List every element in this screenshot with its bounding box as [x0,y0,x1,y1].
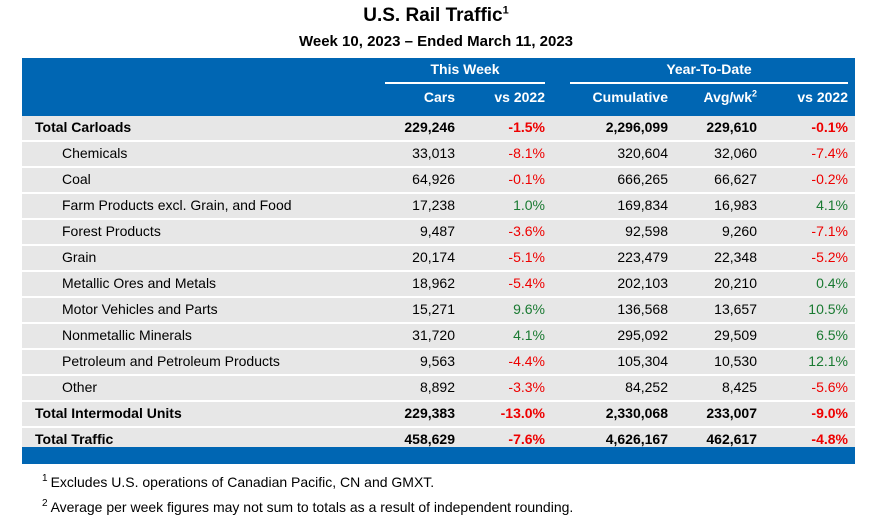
column-header-ytd-vs-2022: vs 2022 [757,89,848,105]
cell-this-week-vs: 4.1% [455,327,545,343]
column-group-year-to-date: Year-To-Date [570,61,848,77]
cell-this-week-vs: -0.1% [455,171,545,187]
cell-avg-per-week: 32,060 [668,145,757,161]
cell-cars: 31,720 [345,327,455,343]
cell-cumulative: 136,568 [555,301,668,317]
cell-ytd-vs: -7.1% [757,223,848,239]
table-row: Nonmetallic Minerals31,7204.1%295,09229,… [22,324,855,348]
table-row: Petroleum and Petroleum Products9,563-4.… [22,350,855,374]
cell-cars: 458,629 [345,431,455,447]
cell-cumulative: 2,330,068 [555,405,668,421]
cell-cars: 20,174 [345,249,455,265]
rail-traffic-report-page: U.S. Rail Traffic1 Week 10, 2023 – Ended… [0,0,872,518]
cell-avg-per-week: 10,530 [668,353,757,369]
cell-cars: 9,487 [345,223,455,239]
cell-avg-per-week: 9,260 [668,223,757,239]
cell-cumulative: 84,252 [555,379,668,395]
cell-cumulative: 92,598 [555,223,668,239]
cell-this-week-vs: -1.5% [455,119,545,135]
cell-cars: 33,013 [345,145,455,161]
cell-ytd-vs: -5.6% [757,379,848,395]
cell-ytd-vs: -5.2% [757,249,848,265]
title-footnote-marker: 1 [503,5,509,17]
table-body: Total Carloads229,246-1.5%2,296,099229,6… [22,116,855,452]
row-label: Motor Vehicles and Parts [62,301,218,317]
table-header-group-row: This Week Year-To-Date [22,58,855,84]
column-header-cumulative: Cumulative [555,89,668,105]
cell-this-week-vs: -3.3% [455,379,545,395]
cell-ytd-vs: -0.2% [757,171,848,187]
cell-cars: 229,383 [345,405,455,421]
page-title: U.S. Rail Traffic1 [0,4,872,28]
cell-cumulative: 223,479 [555,249,668,265]
row-label: Forest Products [62,223,161,239]
cell-this-week-vs: -8.1% [455,145,545,161]
cell-avg-per-week: 462,617 [668,431,757,447]
cell-avg-per-week: 229,610 [668,119,757,135]
table-row: Chemicals33,013-8.1%320,60432,060-7.4% [22,142,855,166]
cell-ytd-vs: 10.5% [757,301,848,317]
cell-cumulative: 320,604 [555,145,668,161]
page-subtitle: Week 10, 2023 – Ended March 11, 2023 [0,32,872,52]
table-row: Forest Products9,487-3.6%92,5989,260-7.1… [22,220,855,244]
cell-avg-per-week: 8,425 [668,379,757,395]
cell-avg-per-week: 16,983 [668,197,757,213]
column-header-this-week-vs-2022: vs 2022 [455,89,545,105]
cell-cumulative: 666,265 [555,171,668,187]
footnote-marker: 1 [42,473,48,484]
cell-avg-per-week: 13,657 [668,301,757,317]
cell-ytd-vs: 12.1% [757,353,848,369]
page-title-text: U.S. Rail Traffic [363,5,502,26]
table-row: Farm Products excl. Grain, and Food17,23… [22,194,855,218]
cell-cars: 229,246 [345,119,455,135]
table-row: Motor Vehicles and Parts15,2719.6%136,56… [22,298,855,322]
cell-ytd-vs: 0.4% [757,275,848,291]
cell-cumulative: 295,092 [555,327,668,343]
table-row: Total Carloads229,246-1.5%2,296,099229,6… [22,116,855,140]
table-row: Grain20,174-5.1%223,47922,348-5.2% [22,246,855,270]
table-header-column-row: Cars vs 2022 Cumulative Avg/wk2 vs 2022 [22,84,855,114]
cell-this-week-vs: -4.4% [455,353,545,369]
cell-this-week-vs: -5.1% [455,249,545,265]
cell-this-week-vs: 1.0% [455,197,545,213]
row-label: Petroleum and Petroleum Products [62,353,280,369]
column-group-this-week: This Week [385,61,545,77]
footnote: 1Excludes U.S. operations of Canadian Pa… [42,470,842,495]
row-label: Farm Products excl. Grain, and Food [62,197,292,213]
column-header-avg-per-week-text: Avg/wk [703,89,752,105]
footnotes: 1Excludes U.S. operations of Canadian Pa… [42,470,842,520]
cell-ytd-vs: -0.1% [757,119,848,135]
cell-avg-per-week: 20,210 [668,275,757,291]
column-header-cars: Cars [345,89,455,105]
cell-this-week-vs: -5.4% [455,275,545,291]
cell-cumulative: 202,103 [555,275,668,291]
row-label: Metallic Ores and Metals [62,275,216,291]
cell-ytd-vs: -4.8% [757,431,848,447]
cell-cars: 64,926 [345,171,455,187]
row-label: Total Traffic [35,431,113,447]
row-label: Grain [62,249,96,265]
cell-avg-per-week: 66,627 [668,171,757,187]
row-label: Nonmetallic Minerals [62,327,192,343]
cell-ytd-vs: 6.5% [757,327,848,343]
footnote: 2Average per week figures may not sum to… [42,495,842,520]
cell-this-week-vs: 9.6% [455,301,545,317]
row-label: Other [62,379,97,395]
cell-avg-per-week: 22,348 [668,249,757,265]
cell-avg-per-week: 29,509 [668,327,757,343]
footnote-text: Average per week figures may not sum to … [51,499,574,515]
cell-cars: 18,962 [345,275,455,291]
table-row: Metallic Ores and Metals18,962-5.4%202,1… [22,272,855,296]
cell-cumulative: 2,296,099 [555,119,668,135]
cell-ytd-vs: -9.0% [757,405,848,421]
cell-cumulative: 4,626,167 [555,431,668,447]
table-footer-bar [22,447,855,464]
cell-cars: 9,563 [345,353,455,369]
table-row: Total Intermodal Units229,383-13.0%2,330… [22,402,855,426]
row-label: Total Intermodal Units [35,405,182,421]
footnote-text: Excludes U.S. operations of Canadian Pac… [51,474,435,490]
table-row: Other8,892-3.3%84,2528,425-5.6% [22,376,855,400]
row-label: Total Carloads [35,119,131,135]
row-label: Coal [62,171,91,187]
cell-cumulative: 105,304 [555,353,668,369]
rail-traffic-table: This Week Year-To-Date Cars vs 2022 Cumu… [22,58,855,452]
row-label: Chemicals [62,145,127,161]
cell-cumulative: 169,834 [555,197,668,213]
cell-cars: 8,892 [345,379,455,395]
table-row: Coal64,926-0.1%666,26566,627-0.2% [22,168,855,192]
cell-this-week-vs: -13.0% [455,405,545,421]
cell-ytd-vs: -7.4% [757,145,848,161]
cell-this-week-vs: -3.6% [455,223,545,239]
table-header: This Week Year-To-Date Cars vs 2022 Cumu… [22,58,855,116]
cell-cars: 17,238 [345,197,455,213]
footnote-marker: 2 [42,498,48,509]
title-block: U.S. Rail Traffic1 Week 10, 2023 – Ended… [0,4,872,52]
column-header-avg-per-week: Avg/wk2 [668,89,757,105]
cell-cars: 15,271 [345,301,455,317]
cell-avg-per-week: 233,007 [668,405,757,421]
cell-this-week-vs: -7.6% [455,431,545,447]
cell-ytd-vs: 4.1% [757,197,848,213]
